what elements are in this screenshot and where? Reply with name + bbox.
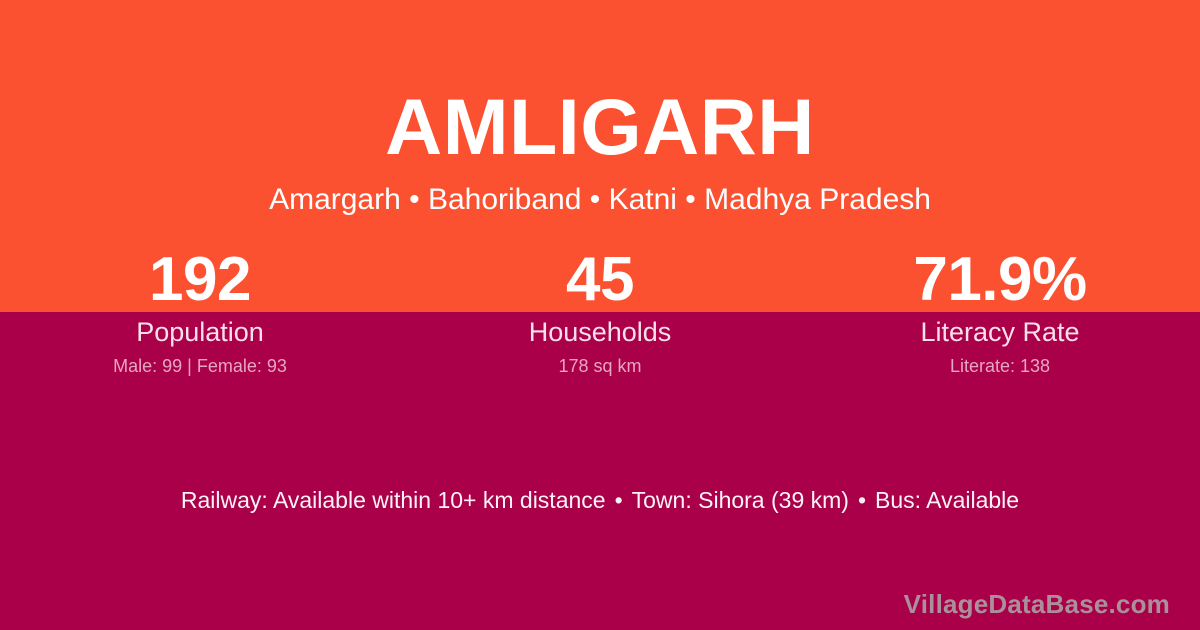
stat-value: 192 (0, 248, 400, 312)
fact-railway: Railway: Available within 10+ km distanc… (181, 487, 606, 513)
fact-town: Town: Sihora (39 km) (632, 487, 849, 513)
stat-population: 192 Population Male: 99 | Female: 93 (0, 248, 400, 377)
stats-row: 192 Population Male: 99 | Female: 93 45 … (0, 248, 1200, 377)
location-breadcrumb: Amargarh • Bahoriband • Katni • Madhya P… (0, 180, 1200, 220)
fact-bus: Bus: Available (875, 487, 1019, 513)
village-info-card: AMLIGARH Amargarh • Bahoriband • Katni •… (0, 0, 1200, 630)
stat-label: Households (400, 316, 800, 348)
fact-separator: • (849, 487, 875, 513)
stat-sublabel: 178 sq km (400, 355, 800, 377)
stat-value: 71.9% (800, 248, 1200, 312)
stat-value: 45 (400, 248, 800, 312)
site-brand-watermark: VillageDataBase.com (904, 588, 1170, 620)
stat-label: Population (0, 316, 400, 348)
stat-households: 45 Households 178 sq km (400, 248, 800, 377)
stat-sublabel: Male: 99 | Female: 93 (0, 355, 400, 377)
stat-sublabel: Literate: 138 (800, 355, 1200, 377)
village-title: AMLIGARH (0, 82, 1200, 172)
stat-label: Literacy Rate (800, 316, 1200, 348)
stat-literacy-rate: 71.9% Literacy Rate Literate: 138 (800, 248, 1200, 377)
card-content: AMLIGARH Amargarh • Bahoriband • Katni •… (0, 0, 1200, 630)
amenities-line: Railway: Available within 10+ km distanc… (0, 485, 1200, 515)
fact-separator: • (606, 487, 632, 513)
